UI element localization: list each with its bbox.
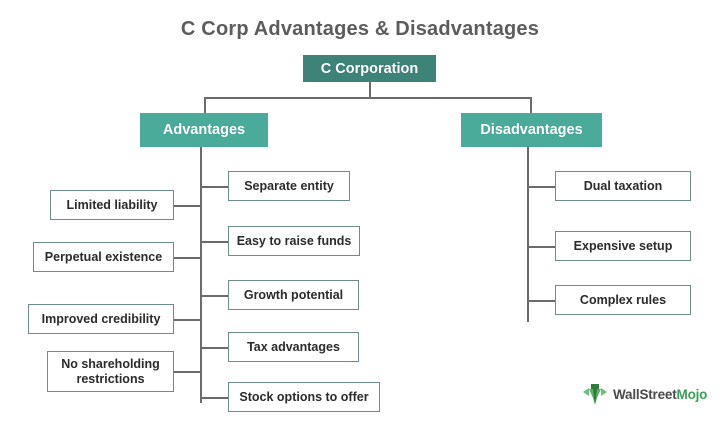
connector-root-horizontal bbox=[204, 97, 532, 99]
connector-stub-limited-liability bbox=[174, 205, 201, 207]
leaf-tax-advantages: Tax advantages bbox=[228, 332, 359, 362]
node-disadvantages: Disadvantages bbox=[461, 113, 602, 147]
leaf-complex-rules-label: Complex rules bbox=[580, 293, 666, 308]
connector-stub-complex-rules bbox=[528, 300, 556, 302]
leaf-no-shareholding-restrictions: No shareholding restrictions bbox=[47, 351, 174, 392]
leaf-no-shareholding-restrictions-label: No shareholding restrictions bbox=[54, 357, 167, 387]
leaf-perpetual-existence: Perpetual existence bbox=[33, 242, 174, 272]
leaf-growth-potential: Growth potential bbox=[228, 280, 359, 310]
leaf-dual-taxation-label: Dual taxation bbox=[584, 179, 663, 194]
wallstreetmojo-logo: WallStreetMojo bbox=[582, 381, 707, 407]
connector-stub-easy-to-raise-funds bbox=[201, 241, 229, 243]
connector-stub-improved-credibility bbox=[174, 319, 201, 321]
leaf-improved-credibility: Improved credibility bbox=[28, 304, 174, 334]
connector-stub-no-shareholding bbox=[174, 371, 201, 373]
connector-root-drop bbox=[369, 82, 371, 98]
leaf-easy-to-raise-funds: Easy to raise funds bbox=[228, 226, 360, 256]
wallstreetmojo-logo-text: WallStreetMojo bbox=[613, 387, 707, 402]
node-c-corporation: C Corporation bbox=[303, 55, 436, 82]
leaf-separate-entity: Separate entity bbox=[228, 171, 350, 201]
leaf-stock-options-to-offer-label: Stock options to offer bbox=[239, 390, 368, 405]
node-c-corporation-label: C Corporation bbox=[321, 61, 418, 77]
leaf-complex-rules: Complex rules bbox=[555, 285, 691, 315]
page-title: C Corp Advantages & Disadvantages bbox=[0, 18, 720, 41]
leaf-growth-potential-label: Growth potential bbox=[244, 288, 343, 303]
connector-stub-separate-entity bbox=[201, 186, 229, 188]
connector-disadvantages-spine bbox=[527, 147, 529, 322]
connector-stub-growth-potential bbox=[201, 295, 229, 297]
node-disadvantages-label: Disadvantages bbox=[480, 122, 582, 138]
leaf-separate-entity-label: Separate entity bbox=[244, 179, 334, 194]
connector-stub-expensive-setup bbox=[528, 246, 556, 248]
connector-stub-tax-advantages bbox=[201, 347, 229, 349]
leaf-expensive-setup: Expensive setup bbox=[555, 231, 691, 261]
leaf-limited-liability: Limited liability bbox=[50, 190, 174, 220]
logo-text-primary: WallStreet bbox=[613, 387, 677, 402]
node-advantages: Advantages bbox=[140, 113, 268, 147]
leaf-expensive-setup-label: Expensive setup bbox=[574, 239, 673, 254]
leaf-perpetual-existence-label: Perpetual existence bbox=[45, 250, 162, 265]
leaf-limited-liability-label: Limited liability bbox=[67, 198, 158, 213]
leaf-stock-options-to-offer: Stock options to offer bbox=[228, 382, 380, 412]
connector-stub-dual-taxation bbox=[528, 186, 556, 188]
leaf-easy-to-raise-funds-label: Easy to raise funds bbox=[237, 234, 352, 249]
wallstreetmojo-arrow-icon bbox=[582, 381, 608, 407]
connector-stub-perpetual-existence bbox=[174, 257, 201, 259]
diagram-canvas: C Corp Advantages & Disadvantages C Corp… bbox=[0, 0, 720, 433]
connector-disadvantages-drop bbox=[530, 97, 532, 113]
leaf-improved-credibility-label: Improved credibility bbox=[42, 312, 161, 327]
leaf-dual-taxation: Dual taxation bbox=[555, 171, 691, 201]
node-advantages-label: Advantages bbox=[163, 122, 245, 138]
leaf-tax-advantages-label: Tax advantages bbox=[247, 340, 340, 355]
connector-advantages-drop bbox=[204, 97, 206, 113]
connector-stub-stock-options bbox=[201, 397, 229, 399]
logo-text-accent: Mojo bbox=[677, 387, 708, 402]
